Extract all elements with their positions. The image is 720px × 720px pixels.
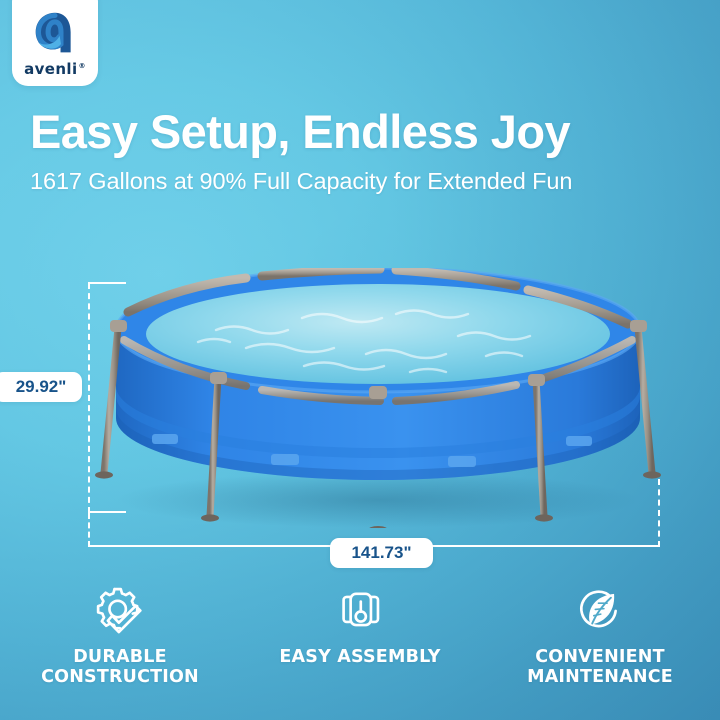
feature-durable-construction: DURABLE CONSTRUCTION (0, 586, 240, 687)
promo-banner: avenli ® Easy Setup, Endless Joy 1617 Ga… (0, 0, 720, 720)
feature-easy-assembly: EASY ASSEMBLY (240, 586, 480, 668)
brand-logo: avenli ® (12, 0, 98, 86)
height-label: 29.92" (0, 372, 82, 402)
feature-label-line1: CONVENIENT (527, 648, 673, 668)
feature-convenient-maintenance: CONVENIENT MAINTENANCE (480, 586, 720, 687)
headline: Easy Setup, Endless Joy (30, 108, 710, 156)
gear-check-icon (95, 586, 145, 636)
round-frame-pool-illustration (66, 268, 686, 528)
feature-label-line2: MAINTENANCE (527, 668, 673, 688)
product-image (66, 268, 686, 528)
width-label: 141.73" (330, 538, 433, 568)
feature-label: EASY ASSEMBLY (279, 648, 440, 668)
avenli-a-mark-icon (32, 10, 78, 56)
feature-label: DURABLE CONSTRUCTION (41, 648, 199, 687)
easy-assembly-icon (335, 586, 385, 636)
feature-label-line1: EASY ASSEMBLY (279, 648, 440, 668)
subheadline: 1617 Gallons at 90% Full Capacity for Ex… (30, 168, 720, 195)
leaf-circle-icon (575, 586, 625, 636)
registered-mark: ® (79, 63, 86, 70)
feature-label-line2: CONSTRUCTION (41, 668, 199, 688)
feature-row: DURABLE CONSTRUCTION EASY ASSEMBLY (0, 586, 720, 704)
brand-wordmark: avenli ® (24, 62, 86, 77)
feature-label: CONVENIENT MAINTENANCE (527, 648, 673, 687)
brand-name: avenli (24, 62, 77, 77)
feature-label-line1: DURABLE (41, 648, 199, 668)
